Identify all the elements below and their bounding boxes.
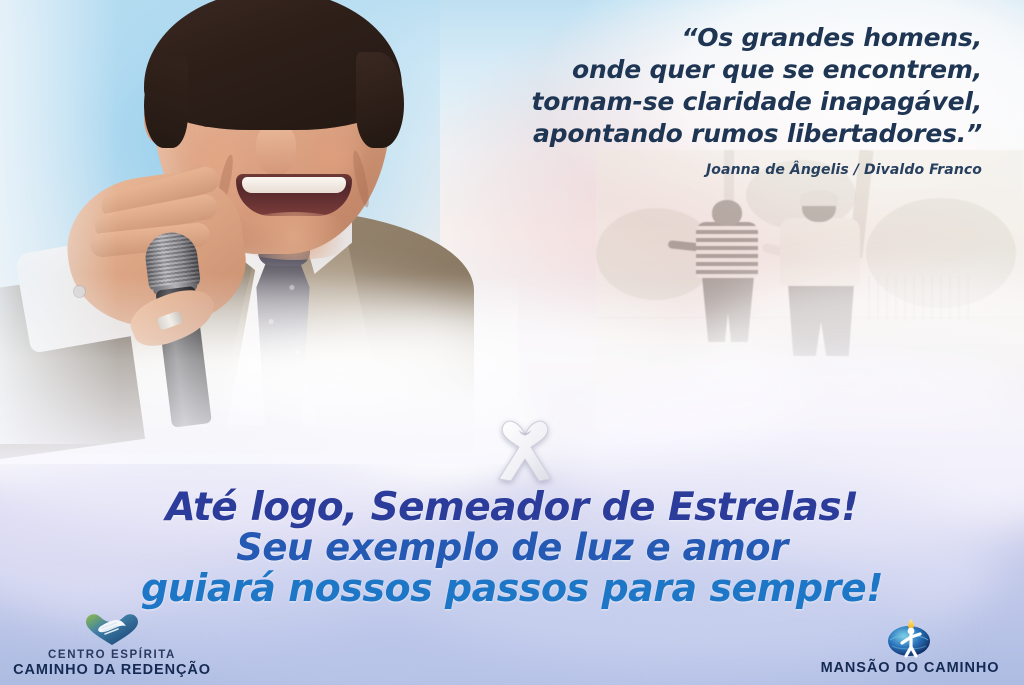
headline-line-2: Seu exemplo de luz e amor — [0, 528, 1024, 568]
logo-centro-espirita: CENTRO ESPÍRITA CAMINHO DA REDENÇÃO — [6, 611, 218, 679]
portrait-fade-bottom — [0, 274, 518, 464]
quote-block: “Os grandes homens, onde quer que se enc… — [422, 22, 982, 178]
globe-figure-icon — [886, 616, 934, 658]
background-photo-ghost — [596, 150, 1024, 430]
ghost-child-head — [712, 200, 742, 226]
portrait-figure — [8, 0, 478, 444]
heart-hands-icon — [83, 611, 141, 647]
quote-line-1: “Os grandes homens, — [422, 22, 982, 54]
ghost-child-body — [696, 222, 758, 278]
headline-line-1: Até logo, Semeador de Estrelas! — [0, 487, 1024, 528]
ghost-man-body — [780, 218, 860, 286]
ghost-fence — [868, 276, 976, 320]
logo-left-line-1: CENTRO ESPÍRITA — [6, 649, 218, 662]
quote-line-4: apontando rumos libertadores.” — [422, 118, 982, 150]
portrait-mouth — [236, 174, 352, 216]
white-ribbon-icon — [489, 409, 561, 485]
portrait-photo — [8, 0, 478, 444]
headline-block: Até logo, Semeador de Estrelas! Seu exem… — [0, 487, 1024, 609]
quote-line-2: onde quer que se encontrem, — [422, 54, 982, 86]
portrait-chin — [226, 212, 362, 260]
portrait-hair-side-left — [144, 56, 188, 148]
quote-author: Joanna de Ângelis / Divaldo Franco — [422, 162, 982, 178]
headline-line-3: guiará nossos passos para sempre! — [0, 568, 1024, 609]
ghost-man-hair — [800, 190, 838, 206]
quote-line-3: tornam-se claridade inapagável, — [422, 86, 982, 118]
ghost-ground — [596, 344, 1024, 430]
portrait-teeth — [242, 177, 346, 193]
logo-right-line-1: MANSÃO DO CAMINHO — [802, 660, 1018, 677]
memorial-poster: “Os grandes homens, onde quer que se enc… — [0, 0, 1024, 685]
logo-left-line-2: CAMINHO DA REDENÇÃO — [6, 662, 218, 679]
portrait-nose — [256, 124, 296, 176]
logo-mansao-do-caminho: MANSÃO DO CAMINHO — [802, 616, 1018, 677]
